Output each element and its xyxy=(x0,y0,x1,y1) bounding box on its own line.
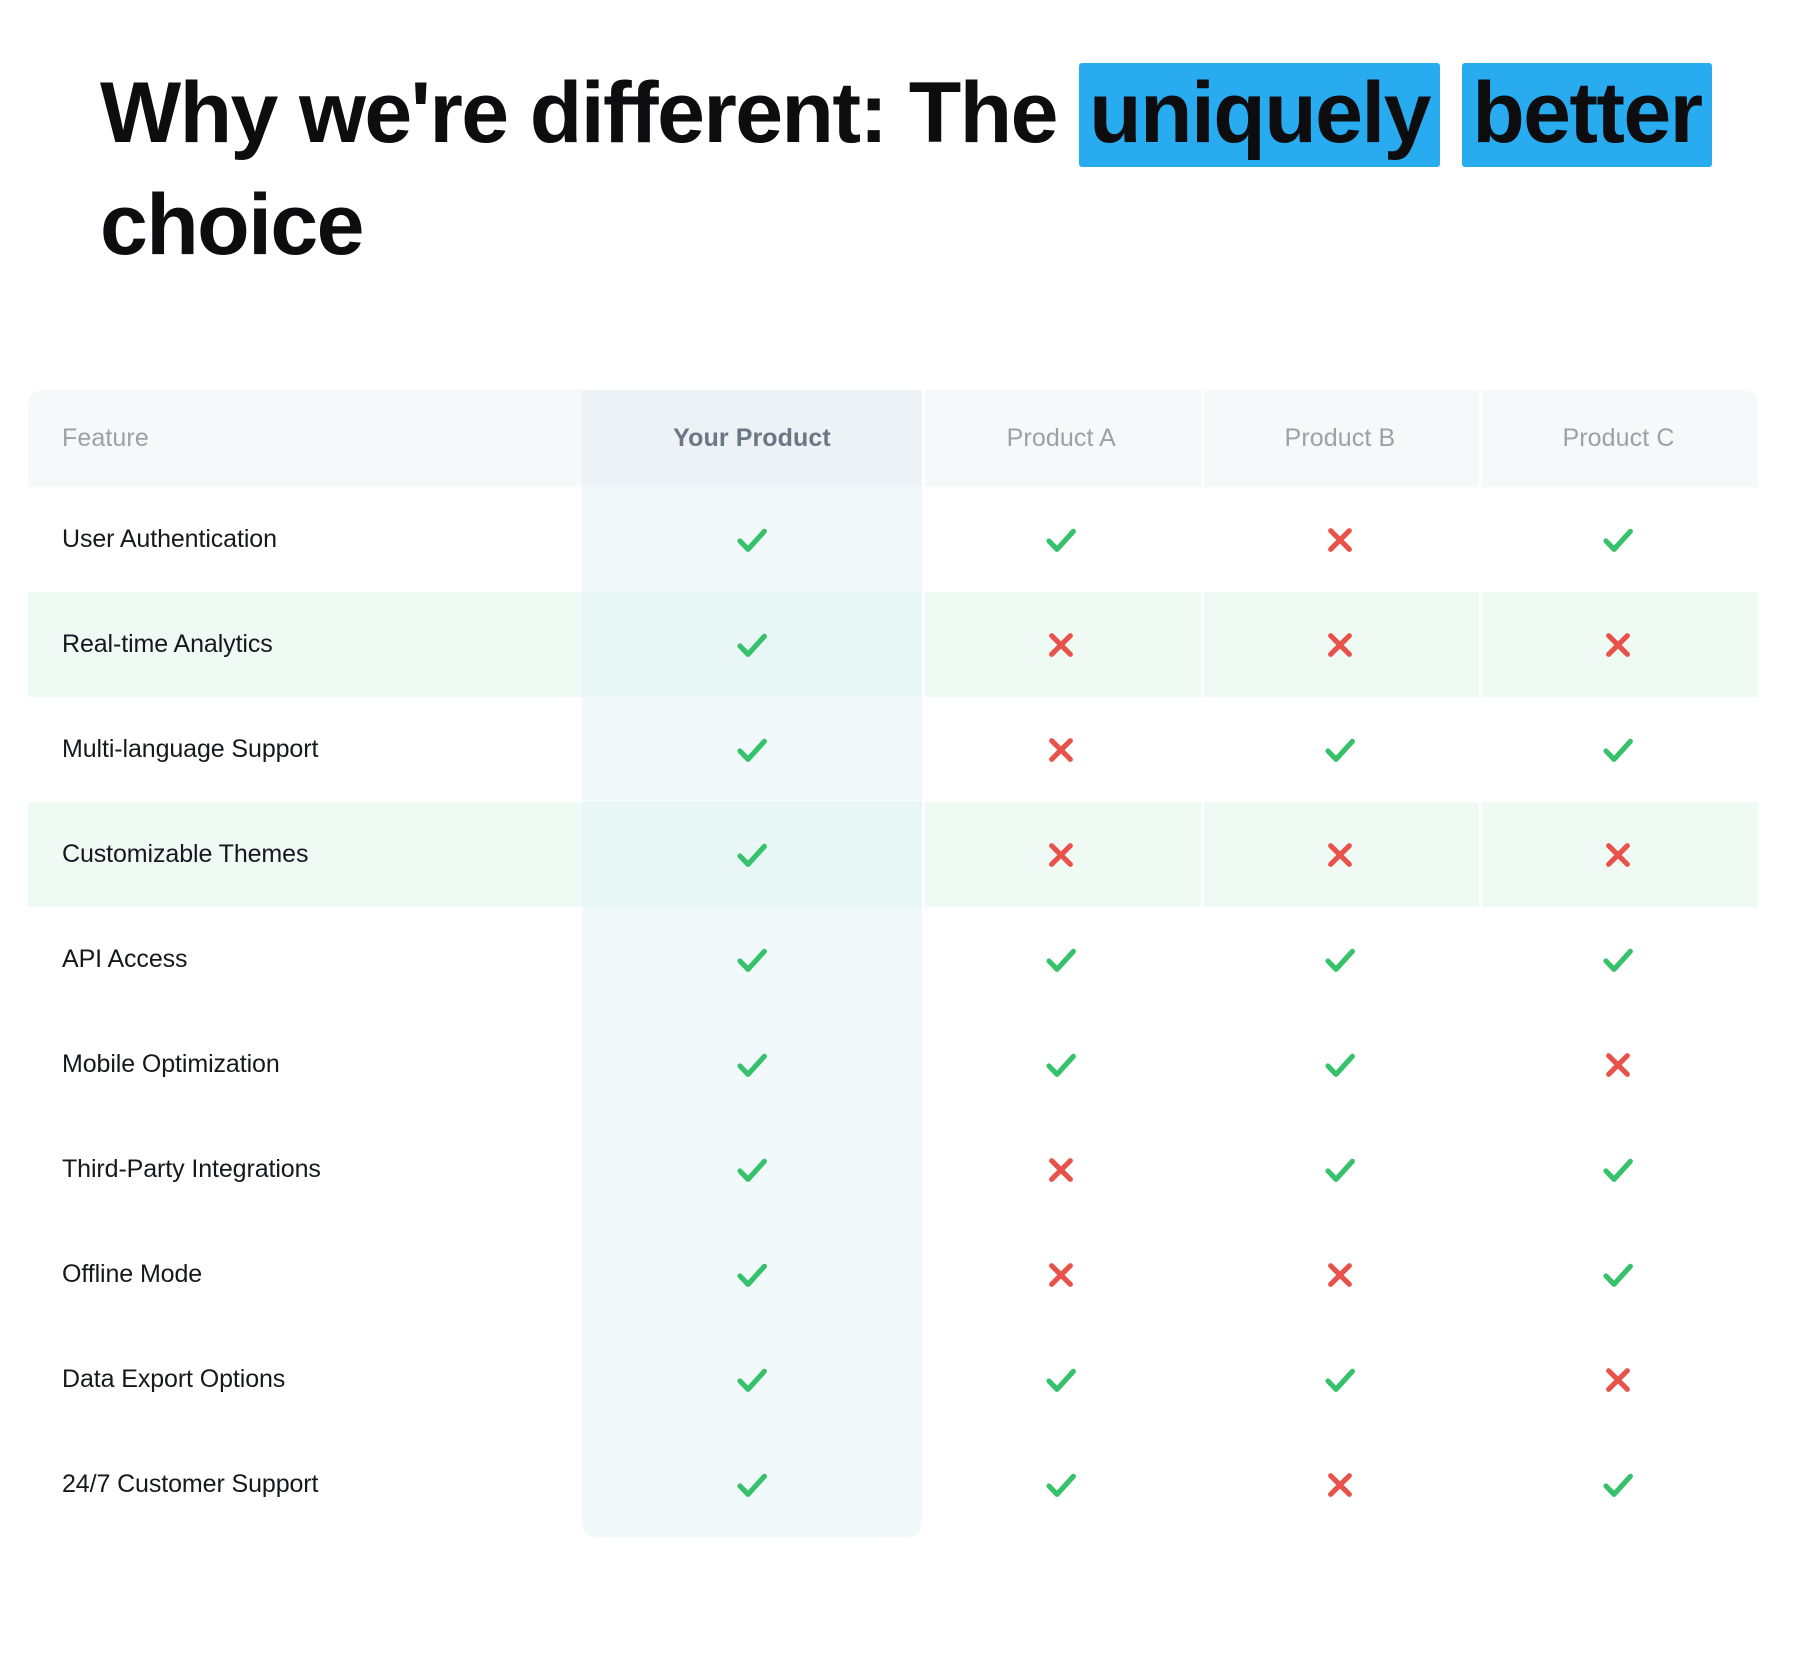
support-cell-b xyxy=(1201,1117,1480,1222)
cross-icon xyxy=(1041,835,1081,875)
support-cell-a xyxy=(922,592,1201,697)
support-cell-c xyxy=(1479,802,1758,907)
column-header-your-product: Your Product xyxy=(582,390,922,487)
table-row: Mobile Optimization xyxy=(28,1012,1758,1117)
support-cell-ours xyxy=(582,1327,922,1432)
support-cell-ours xyxy=(582,907,922,1012)
support-cell-b xyxy=(1201,1012,1480,1117)
check-icon xyxy=(732,1045,772,1085)
support-cell-a xyxy=(922,1327,1201,1432)
cross-icon xyxy=(1598,1045,1638,1085)
check-icon xyxy=(1320,1045,1360,1085)
feature-cell: 24/7 Customer Support xyxy=(28,1432,582,1537)
support-cell-ours xyxy=(582,592,922,697)
support-cell-a xyxy=(922,697,1201,802)
table-row: Customizable Themes xyxy=(28,802,1758,907)
feature-cell: Mobile Optimization xyxy=(28,1012,582,1117)
check-icon xyxy=(732,1360,772,1400)
support-cell-c xyxy=(1479,1222,1758,1327)
support-cell-ours xyxy=(582,1012,922,1117)
feature-label: Real-time Analytics xyxy=(62,630,273,659)
support-cell-a xyxy=(922,1222,1201,1327)
check-icon xyxy=(1598,520,1638,560)
feature-label: API Access xyxy=(62,945,187,974)
support-cell-b xyxy=(1201,592,1480,697)
column-header-feature: Feature xyxy=(28,390,582,487)
feature-cell: Offline Mode xyxy=(28,1222,582,1327)
support-cell-a xyxy=(922,907,1201,1012)
feature-label: Mobile Optimization xyxy=(62,1050,280,1079)
table-header-row: Feature Your Product Product A Product B… xyxy=(28,390,1758,487)
support-cell-c xyxy=(1479,1432,1758,1537)
check-icon xyxy=(1041,520,1081,560)
support-cell-b xyxy=(1201,907,1480,1012)
check-icon xyxy=(732,940,772,980)
table-row: Offline Mode xyxy=(28,1222,1758,1327)
check-icon xyxy=(732,625,772,665)
feature-label: Offline Mode xyxy=(62,1260,202,1289)
feature-label: User Authentication xyxy=(62,525,277,554)
table-body: User AuthenticationReal-time AnalyticsMu… xyxy=(28,487,1758,1537)
table-row: 24/7 Customer Support xyxy=(28,1432,1758,1537)
check-icon xyxy=(732,1465,772,1505)
cross-icon xyxy=(1041,625,1081,665)
feature-cell: Data Export Options xyxy=(28,1327,582,1432)
check-icon xyxy=(1598,1150,1638,1190)
support-cell-ours xyxy=(582,697,922,802)
check-icon xyxy=(1598,940,1638,980)
cross-icon xyxy=(1041,1150,1081,1190)
feature-label: 24/7 Customer Support xyxy=(62,1470,318,1499)
column-header-product-b: Product B xyxy=(1201,390,1480,487)
table-row: Third-Party Integrations xyxy=(28,1117,1758,1222)
headline-highlight-better: better xyxy=(1462,63,1711,167)
table-row: Multi-language Support xyxy=(28,697,1758,802)
table-row: Data Export Options xyxy=(28,1327,1758,1432)
check-icon xyxy=(1598,1255,1638,1295)
support-cell-b xyxy=(1201,697,1480,802)
feature-label: Customizable Themes xyxy=(62,840,308,869)
support-cell-b xyxy=(1201,1327,1480,1432)
feature-cell: Real-time Analytics xyxy=(28,592,582,697)
support-cell-c xyxy=(1479,487,1758,592)
column-header-product-a: Product A xyxy=(922,390,1201,487)
feature-cell: API Access xyxy=(28,907,582,1012)
support-cell-ours xyxy=(582,802,922,907)
feature-cell: Multi-language Support xyxy=(28,697,582,802)
check-icon xyxy=(1320,1150,1360,1190)
check-icon xyxy=(732,1150,772,1190)
support-cell-a xyxy=(922,1012,1201,1117)
column-header-product-c: Product C xyxy=(1479,390,1758,487)
check-icon xyxy=(1598,1465,1638,1505)
table-row: User Authentication xyxy=(28,487,1758,592)
comparison-page: Why we're different: The uniquely better… xyxy=(0,0,1808,1662)
check-icon xyxy=(1041,1045,1081,1085)
feature-cell: User Authentication xyxy=(28,487,582,592)
support-cell-b xyxy=(1201,1432,1480,1537)
check-icon xyxy=(1320,730,1360,770)
column-header-your-product-label: Your Product xyxy=(673,424,831,453)
feature-label: Multi-language Support xyxy=(62,735,318,764)
column-header-feature-label: Feature xyxy=(62,424,149,453)
headline-part-3: choice xyxy=(100,177,363,273)
column-header-product-b-label: Product B xyxy=(1285,424,1396,453)
column-header-product-a-label: Product A xyxy=(1007,424,1116,453)
check-icon xyxy=(1320,940,1360,980)
column-header-product-c-label: Product C xyxy=(1562,424,1674,453)
support-cell-c xyxy=(1479,1117,1758,1222)
support-cell-c xyxy=(1479,1012,1758,1117)
support-cell-a xyxy=(922,487,1201,592)
table-row: API Access xyxy=(28,907,1758,1012)
support-cell-ours xyxy=(582,1117,922,1222)
feature-label: Third-Party Integrations xyxy=(62,1155,321,1184)
support-cell-ours xyxy=(582,487,922,592)
check-icon xyxy=(1320,1360,1360,1400)
cross-icon xyxy=(1320,1255,1360,1295)
check-icon xyxy=(1041,1465,1081,1505)
cross-icon xyxy=(1320,625,1360,665)
check-icon xyxy=(732,835,772,875)
cross-icon xyxy=(1320,1465,1360,1505)
check-icon xyxy=(732,730,772,770)
cross-icon xyxy=(1320,520,1360,560)
feature-label: Data Export Options xyxy=(62,1365,285,1394)
headline-part-1: Why we're different: The xyxy=(100,65,1079,161)
check-icon xyxy=(732,520,772,560)
support-cell-ours xyxy=(582,1222,922,1327)
page-headline: Why we're different: The uniquely better… xyxy=(100,58,1720,282)
cross-icon xyxy=(1041,1255,1081,1295)
cross-icon xyxy=(1320,835,1360,875)
support-cell-c xyxy=(1479,907,1758,1012)
headline-part-2 xyxy=(1440,65,1462,161)
feature-cell: Customizable Themes xyxy=(28,802,582,907)
cross-icon xyxy=(1598,1360,1638,1400)
table-row: Real-time Analytics xyxy=(28,592,1758,697)
check-icon xyxy=(732,1255,772,1295)
cross-icon xyxy=(1598,625,1638,665)
cross-icon xyxy=(1041,730,1081,770)
check-icon xyxy=(1041,940,1081,980)
headline-highlight-uniquely: uniquely xyxy=(1079,63,1440,167)
support-cell-b xyxy=(1201,1222,1480,1327)
cross-icon xyxy=(1598,835,1638,875)
support-cell-ours xyxy=(582,1432,922,1537)
support-cell-b xyxy=(1201,802,1480,907)
support-cell-a xyxy=(922,802,1201,907)
check-icon xyxy=(1598,730,1638,770)
feature-cell: Third-Party Integrations xyxy=(28,1117,582,1222)
support-cell-c xyxy=(1479,697,1758,802)
check-icon xyxy=(1041,1360,1081,1400)
support-cell-b xyxy=(1201,487,1480,592)
support-cell-c xyxy=(1479,592,1758,697)
support-cell-c xyxy=(1479,1327,1758,1432)
support-cell-a xyxy=(922,1117,1201,1222)
support-cell-a xyxy=(922,1432,1201,1537)
comparison-table: Feature Your Product Product A Product B… xyxy=(28,390,1758,1537)
